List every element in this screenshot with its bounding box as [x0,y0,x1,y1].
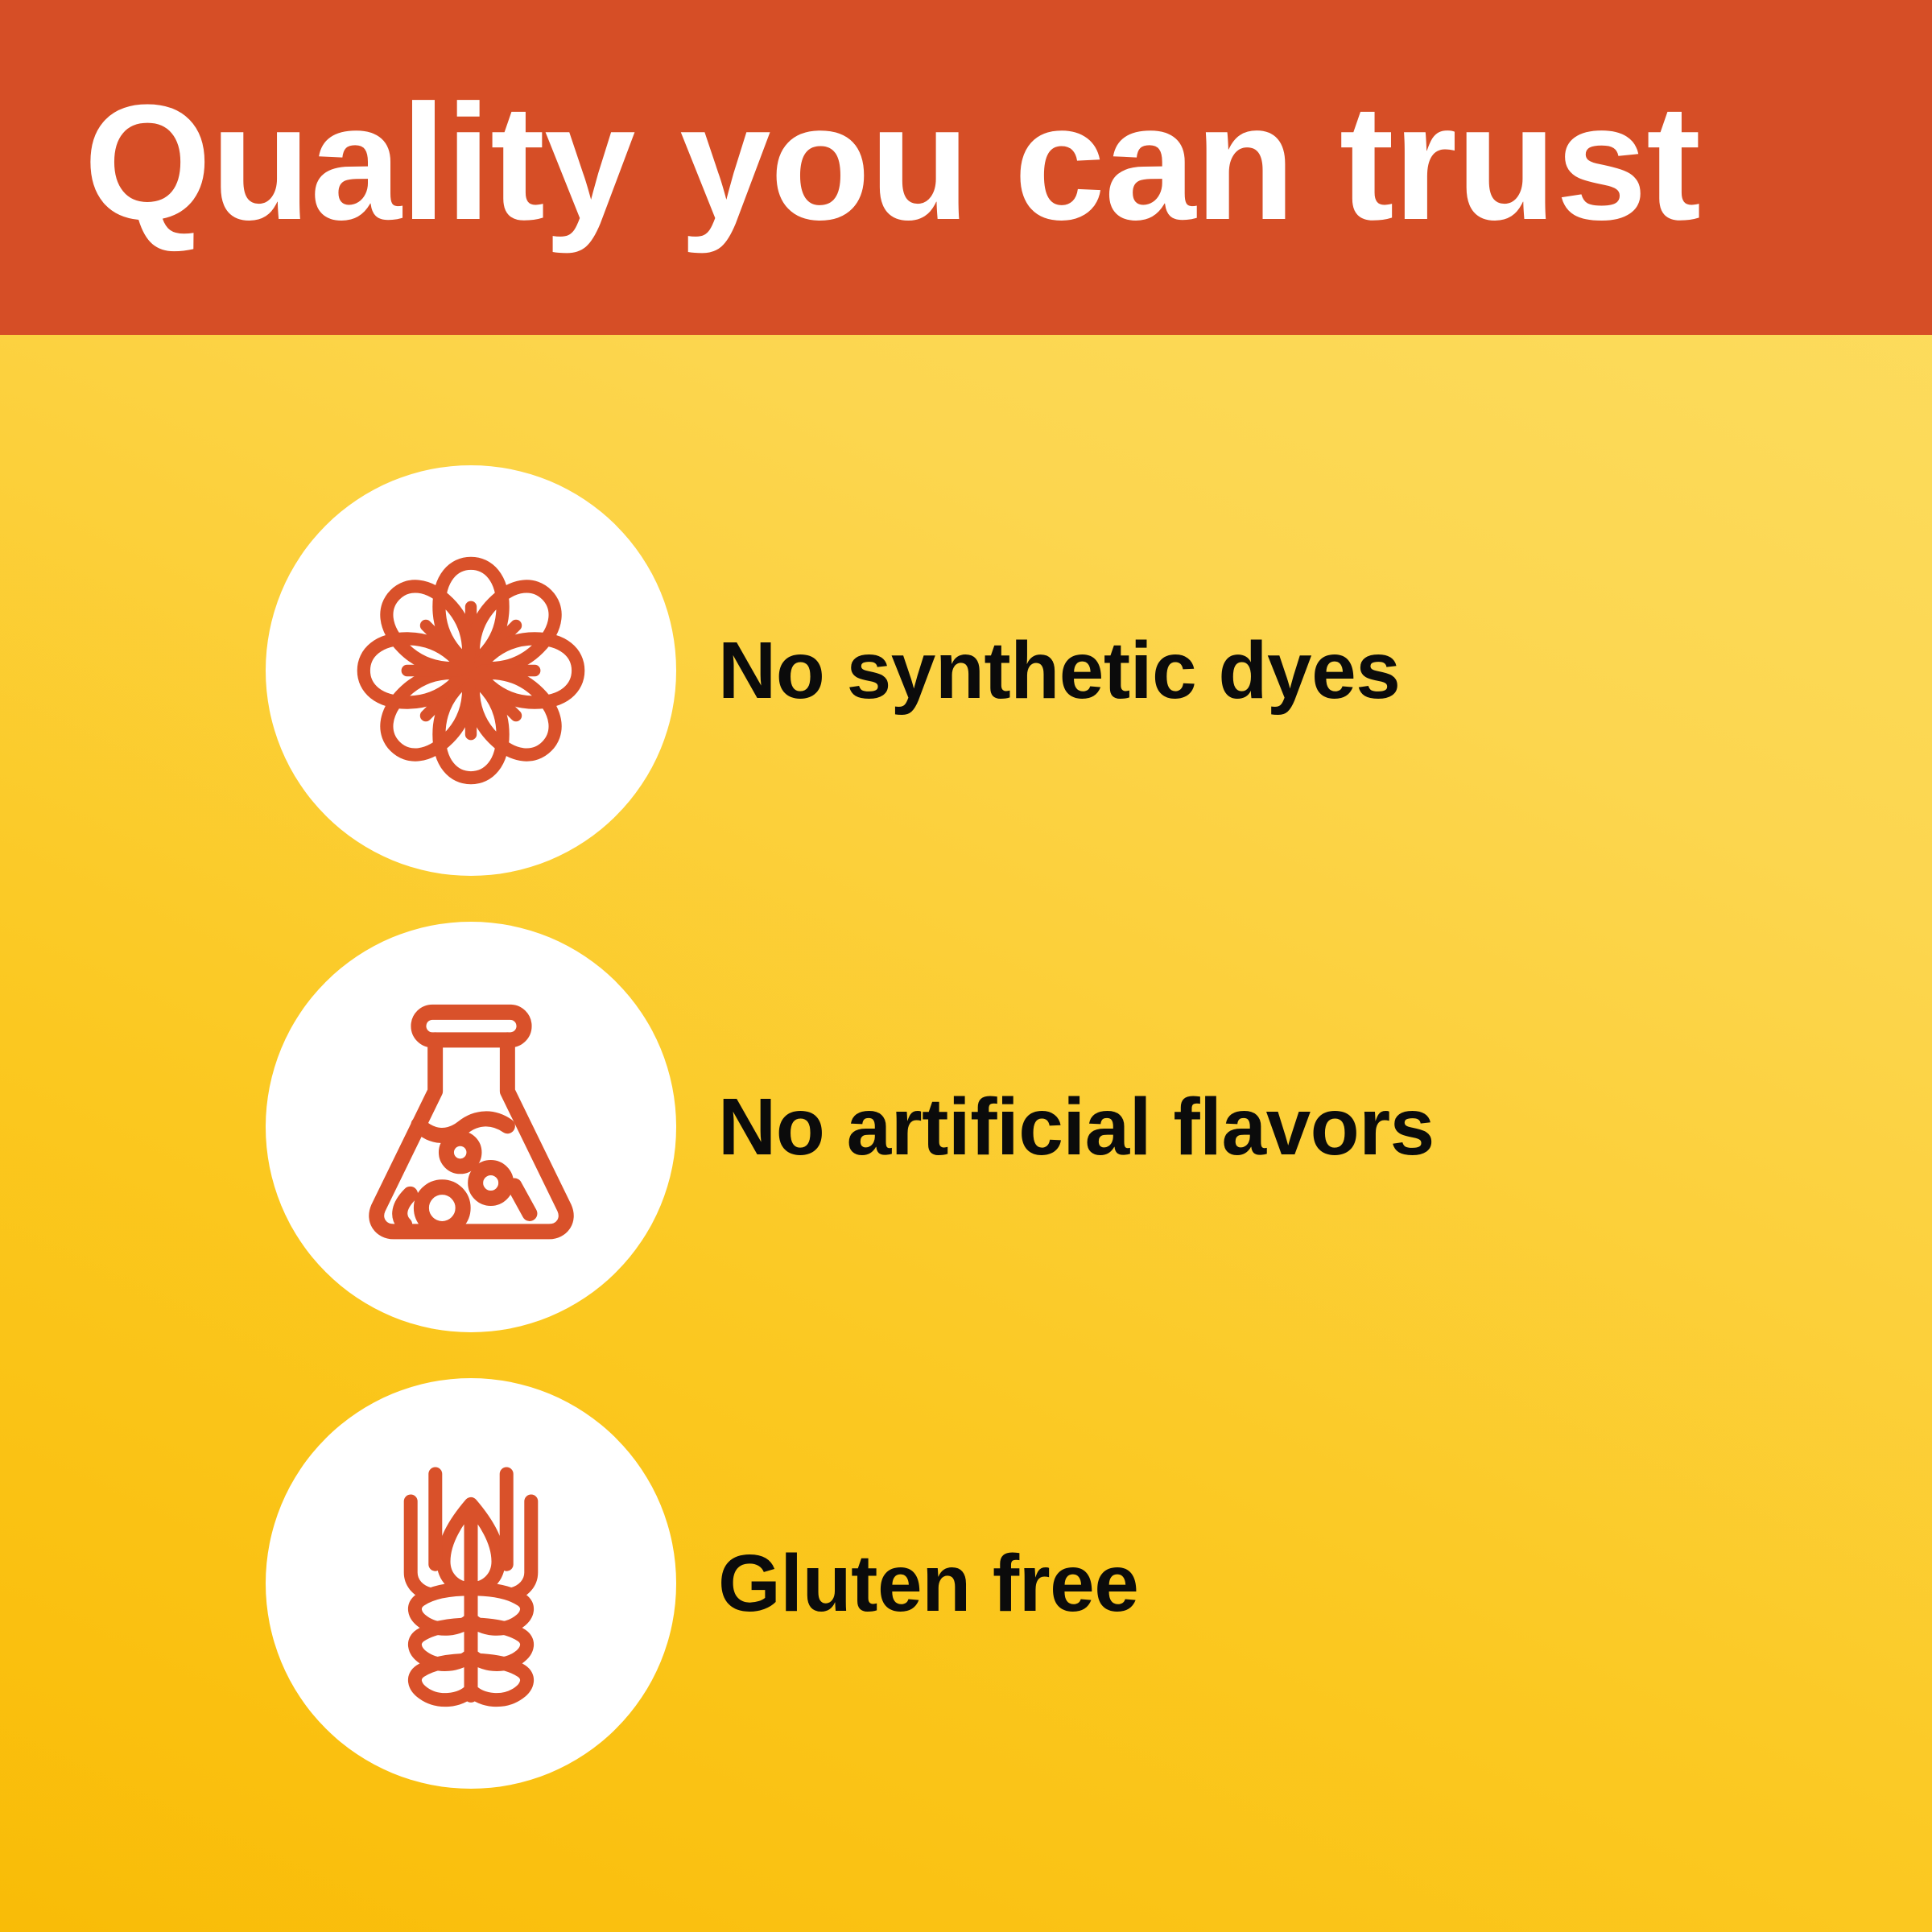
feature-list: No synthetic dyes [0,335,1932,1932]
page-title: Quality you can trust [84,80,1700,245]
feature-icon-badge [266,1378,676,1789]
feature-icon-badge [266,922,676,1332]
feature-label: No synthetic dyes [718,629,1400,713]
feature-label: No artificial flavors [718,1085,1435,1170]
feature-icon-badge [266,465,676,876]
feature-row: Gluten free [266,1378,1932,1789]
feature-row: No artificial flavors [266,922,1932,1332]
erlenmeyer-flask-icon [332,989,610,1266]
wheat-stalk-icon [334,1447,608,1720]
feature-row: No synthetic dyes [266,465,1932,876]
flower-petals-icon [326,526,616,815]
quality-claims-poster: Quality you can trust [0,0,1932,1932]
header-banner: Quality you can trust [0,0,1932,335]
feature-label: Gluten free [718,1542,1138,1626]
